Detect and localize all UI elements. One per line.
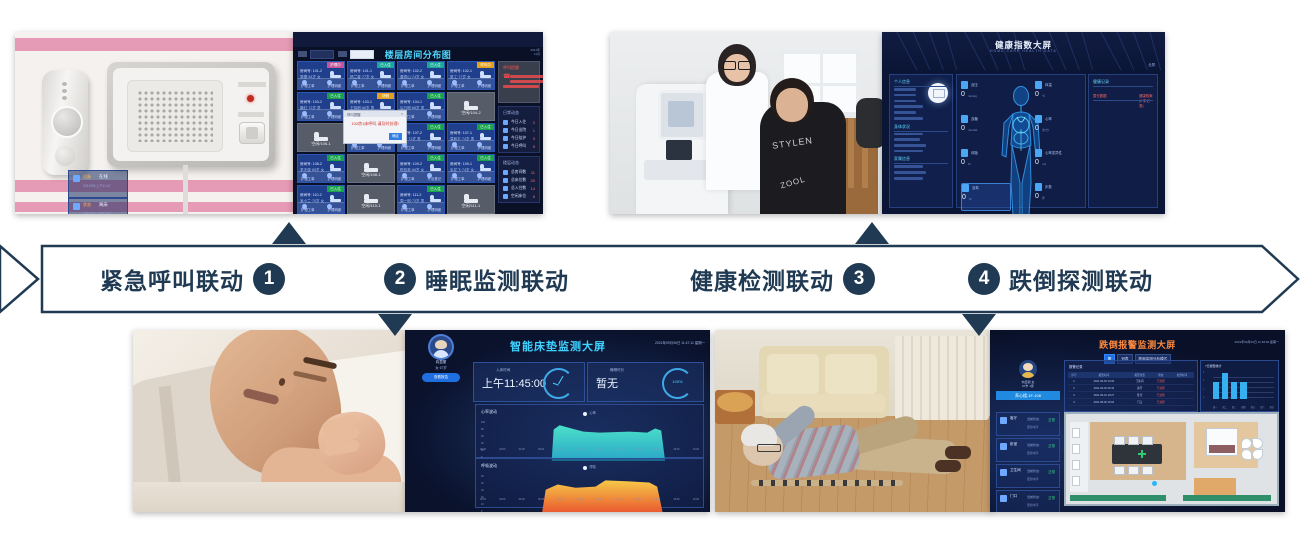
- breath-chart-legend: 呼吸: [590, 464, 596, 469]
- bed-icon: [380, 71, 391, 78]
- smart-mattress-dashboard: 向显丽 女 67岁 查看报告 智能床垫监测大屏 2021年09月06日 11:4…: [405, 330, 710, 512]
- shoe: [935, 460, 961, 472]
- health-records-column: 健康记录 暂无数据 健康档案(0 条记录): [1088, 74, 1158, 208]
- status-row-state: 状态离床2021/9/6 上午11:47: [68, 198, 128, 214]
- room-status-livingroom[interactable]: 客厅当前状态:正常更新时间:: [996, 412, 1060, 436]
- x-tick: 00:00: [480, 498, 486, 505]
- table-cell: 已处理: [1152, 385, 1170, 392]
- gauge-value: 100%: [664, 379, 691, 384]
- bed-action-1[interactable]: 护理工单: [351, 83, 365, 88]
- info-line: [894, 105, 923, 108]
- person-icon: [503, 120, 508, 125]
- stat-label: 今日入住: [511, 120, 526, 125]
- panel-title: 身体状况: [894, 124, 952, 130]
- y-tick: 3: [1203, 372, 1204, 374]
- bed-room-no: 房间号: 102-2: [400, 69, 422, 74]
- bed-action-1[interactable]: 护理工单: [451, 83, 465, 88]
- x-tick: 18:00: [654, 498, 660, 505]
- bedroom-icon: [1000, 443, 1007, 450]
- bed-action-1[interactable]: 护理工单: [301, 207, 315, 212]
- breath-icon: [1035, 149, 1042, 157]
- table-row[interactable]: 42021-08-30 10:04门口已处理: [1068, 399, 1194, 406]
- status-badge: 已入住: [377, 62, 394, 68]
- connector-arrow-up: [855, 222, 889, 244]
- bed-icon: [480, 71, 491, 78]
- metric-value: 0: [1035, 91, 1039, 99]
- blood-sugar-icon: [961, 115, 968, 123]
- bed-icon: [330, 71, 341, 78]
- sleep-duration-card: 睡眠时长 暂无 100%: [587, 362, 704, 402]
- metric-unit: mmol/L: [968, 128, 978, 132]
- info-line: [894, 138, 920, 141]
- call-button: [51, 106, 83, 138]
- bed-icon: [480, 133, 491, 140]
- bed-action-1[interactable]: 护理工单: [401, 176, 415, 181]
- metric-step: 步数0步: [1035, 183, 1083, 209]
- table-cell: 卧室: [1128, 392, 1152, 399]
- metric-value: 0: [961, 91, 965, 99]
- banner-number-1: 1: [253, 263, 285, 295]
- doctor-body: [706, 72, 768, 190]
- status-badge: 已入住: [427, 155, 444, 161]
- records-title: 健康记录: [1093, 79, 1157, 85]
- status-badge: 已入住: [427, 186, 444, 192]
- bed-action-1[interactable]: 护理工单: [301, 114, 315, 119]
- status-value: 在线: [99, 174, 108, 180]
- room-update-time: 更新时间:: [1027, 451, 1039, 455]
- blood-oxygen-icon: [962, 184, 969, 192]
- floor-plan: [1064, 412, 1279, 506]
- info-line: [894, 144, 926, 147]
- records-col1: 暂无数据: [1093, 93, 1107, 98]
- bed-card[interactable]: 已入住房间号: 111-2周一明·73岁 男护理工单护理明细: [397, 185, 445, 214]
- bedtime-label: 入床时间: [496, 368, 510, 373]
- status-badge: 已入住: [427, 124, 444, 130]
- banner-item-1[interactable]: 紧急呼叫联动 1: [100, 244, 285, 314]
- daily-stats-title: 日常动态: [503, 110, 539, 116]
- bed: [1206, 428, 1238, 456]
- bed-action-1[interactable]: 护理工单: [451, 145, 465, 150]
- bed-card[interactable]: 已入住房间号: 107-1袁和平·74岁 男护理工单护理明细: [447, 123, 495, 152]
- bed-card[interactable]: 已入住房间号: 102-2唐秀山·74岁 女护理工单护理明细: [397, 61, 445, 90]
- avatar: [430, 336, 452, 358]
- bedtime-card: 入床时间 上午11:45:00: [473, 362, 585, 402]
- metric-thermometer: 体温0℃: [1035, 81, 1083, 107]
- breath-chart-title: 呼吸波动: [481, 463, 497, 469]
- bed-action-2[interactable]: 护理明细: [477, 176, 491, 181]
- status-badge: 已入住: [477, 124, 494, 130]
- dash-fall-stamp: 2021年09月06日 11:48:02 星期一: [1235, 340, 1279, 344]
- dining-table: [1112, 444, 1162, 464]
- info-line: [894, 177, 923, 180]
- banner-item-3[interactable]: 健康检测联动 3: [690, 244, 875, 314]
- connector-arrow-down: [962, 314, 996, 336]
- x-tick: 14:00: [616, 448, 622, 455]
- x-tick: 16:00: [635, 498, 641, 505]
- blanket: [133, 482, 405, 512]
- bed-card[interactable]: 已入住房间号: 109-1毛花飞·74岁 女护理工单护理明细: [447, 154, 495, 183]
- table-cell: 已处理: [1152, 392, 1170, 399]
- bed-room-no: 房间号: 104-1: [400, 100, 422, 105]
- modal-ok-button[interactable]: 确定: [389, 133, 402, 140]
- clock-icon: [543, 368, 574, 399]
- resident-card: 向显丽 女 67岁 1床 养心楼-1F-108: [996, 360, 1060, 400]
- status-badge: 护理中: [327, 62, 344, 68]
- kiosk-tablet: [666, 140, 692, 160]
- table-cell: 2021-09-02 09:42: [1080, 385, 1128, 392]
- table-cell: 4: [1068, 399, 1080, 406]
- bed-card-empty[interactable]: 空闲/108-1: [347, 154, 395, 183]
- stat-row: 总入住数14: [499, 184, 539, 192]
- door-icon: [1000, 495, 1007, 502]
- metric-name: 体温: [1045, 82, 1052, 87]
- bed-icon: [330, 102, 341, 109]
- bed-card[interactable]: 呼叫中房间号: 102-1夏工·77岁 女护理工单护理明细: [447, 61, 495, 90]
- phone-icon: [503, 144, 508, 149]
- bed-action-2[interactable]: 护理明细: [327, 114, 341, 119]
- room-state-label: 当前状态:: [1027, 443, 1040, 447]
- status-badge: 已入住: [427, 93, 444, 99]
- metric-name: 血糖: [971, 116, 978, 121]
- bed-action-2[interactable]: 护理明细: [327, 83, 341, 88]
- view-report-button[interactable]: 查看报告: [422, 373, 460, 382]
- bed-action-1[interactable]: 护理工单: [451, 176, 465, 181]
- table-cell: [1170, 399, 1194, 406]
- room-update-time: 更新时间:: [1027, 503, 1039, 507]
- health-info-column: 个人信息身体状况家属信息: [889, 74, 953, 208]
- people-icon: [503, 186, 508, 191]
- bed-icon: [480, 164, 491, 171]
- floor-stats-title: 楼层动态: [503, 160, 539, 166]
- bed-action-2[interactable]: 护理明细: [327, 207, 341, 212]
- room-name: 卫生间: [1010, 468, 1021, 473]
- x-tick: 00:00: [480, 448, 486, 455]
- y-tick: 2: [1203, 380, 1204, 382]
- x-tick: 22:00: [693, 448, 699, 455]
- livingroom-icon: [1000, 417, 1007, 424]
- sleep-duration-label: 睡眠时长: [610, 368, 624, 373]
- bed-empty-label: 空闲/104-2: [448, 110, 494, 116]
- metric-breath: 心率变异性0ms: [1035, 149, 1083, 175]
- stat-row: 总房间数11: [499, 168, 539, 176]
- bed-card[interactable]: 护理中房间号: 101-2周雪·84岁 女护理工单护理明细: [297, 61, 345, 90]
- resident-age: 女 67岁: [413, 365, 469, 370]
- close-icon[interactable]: ×: [401, 112, 403, 116]
- stat-label: 总床位数: [511, 178, 526, 183]
- blood-pressure-icon: [961, 81, 968, 89]
- metric-name: 步数: [1045, 184, 1052, 189]
- table-cell: [1170, 385, 1194, 392]
- reset-button: [55, 146, 75, 166]
- heart-chart-legend: 心率: [590, 410, 596, 415]
- call-station-unit: [107, 62, 275, 167]
- alarm-bar-chart: 7日报警统计 3210 周一周二周三周四周五周六周日: [1200, 360, 1279, 412]
- stat-label: 今日呼叫: [511, 144, 526, 149]
- banner-number-2: 2: [384, 263, 416, 295]
- table-cell: 客厅: [1128, 385, 1152, 392]
- heart-icon: [1035, 115, 1042, 123]
- metric-value: 0: [961, 125, 965, 133]
- room-status-bathroom[interactable]: 卫生间当前状态:正常更新时间:: [996, 464, 1060, 488]
- room-update-time: 更新时间:: [1027, 477, 1039, 481]
- bar-chart-title: 7日报警统计: [1205, 364, 1222, 368]
- stat-label: 今日出院: [511, 128, 526, 133]
- table: 序号报警时间报警位置状态处理时间 12021-09-03 13:06卫生间已处理…: [1068, 372, 1194, 406]
- status-badge: 已入住: [327, 155, 344, 161]
- room-status-value: 正常: [1048, 417, 1055, 422]
- info-line: [894, 94, 916, 97]
- x-tick: 周日: [1270, 405, 1274, 409]
- stat-value: 20: [531, 178, 535, 183]
- metric-value: 0: [1035, 159, 1039, 167]
- office-chair: [856, 98, 882, 148]
- x-tick: 04:00: [519, 498, 525, 505]
- info-line: [894, 133, 923, 136]
- metric-value: 0: [961, 159, 965, 167]
- status-key: 状态: [83, 202, 91, 208]
- metric-unit: %: [968, 162, 971, 166]
- metric-blood-pressure: 血压0mmHg: [961, 81, 1009, 107]
- panel-title: 家属信息: [894, 156, 952, 162]
- fall-alarm-dashboard: 跌倒报警监测大屏 2021年09月06日 11:48:02 星期一 图列表跌倒监…: [990, 330, 1285, 512]
- table-cell: 2: [1068, 385, 1080, 392]
- banner-item-4[interactable]: 4 跌倒探测联动: [968, 244, 1153, 314]
- x-tick: 周四: [1241, 405, 1245, 409]
- bed-icon: [430, 71, 441, 78]
- stat-label: 空闲床位: [511, 194, 526, 199]
- glasses-icon: [757, 444, 781, 452]
- glasses-icon: [723, 61, 751, 68]
- bed-card-empty[interactable]: 空闲/111-1: [447, 185, 495, 214]
- daily-stats-panel: 日常动态 今日入住2今日出院1今日陪护3今日呼叫5: [498, 106, 540, 153]
- bed-action-2[interactable]: 护理明细: [477, 145, 491, 150]
- metric-name: 血氧: [972, 185, 979, 190]
- bed-icon: [430, 195, 441, 202]
- bed-room-no: 房间号: 101-2: [300, 69, 322, 74]
- avatar: [1019, 360, 1037, 378]
- info-line: [894, 165, 923, 168]
- bed-action-2[interactable]: 护理明细: [477, 83, 491, 88]
- bed-action-1[interactable]: 护理工单: [351, 145, 365, 150]
- bmi-icon: [961, 149, 968, 157]
- bed-action-2[interactable]: 外出登记: [427, 176, 441, 181]
- bed-action-2[interactable]: 护理明细: [377, 83, 391, 88]
- status-badge: 已入住: [327, 186, 344, 192]
- stat-value: 1: [533, 128, 535, 133]
- banner-item-2[interactable]: 2 睡眠监测联动: [384, 244, 569, 314]
- room-status-value: 正常: [1048, 469, 1055, 474]
- table-row[interactable]: 22021-09-02 09:42客厅已处理: [1068, 385, 1194, 392]
- x-tick: 周三: [1232, 405, 1236, 409]
- status-value: 离床: [99, 202, 108, 208]
- bed-action-1[interactable]: 护理工单: [401, 145, 415, 150]
- bed-card-empty[interactable]: 空闲/110-1: [347, 185, 395, 214]
- health-index-dashboard: 健康指数大屏 HOME CARE HEALTH DATA 全屏 个人信息身体状况…: [882, 32, 1165, 214]
- status-time: 2021/9/6 上午11:47: [83, 183, 110, 188]
- x-tick: 12:00: [596, 448, 602, 455]
- escort-icon: [503, 136, 508, 141]
- bed-room-no: 房间号: 102-1: [450, 69, 472, 74]
- filter-select-building[interactable]: [310, 50, 334, 59]
- bed-card[interactable]: 已入住房间号: 101-1杨兰香·77岁 女护理工单护理明细: [347, 61, 395, 90]
- wall-strip: [1183, 495, 1271, 501]
- device-icon: [73, 175, 80, 182]
- banner-number-4: 4: [968, 263, 1000, 295]
- bed-card[interactable]: 已入住房间号: 110-2吴小兰·70岁 女护理工单护理明细: [297, 185, 345, 214]
- info-line: [894, 117, 923, 120]
- alarm-record-table: 报警记录 序号报警时间报警位置状态处理时间 12021-09-03 13:06卫…: [1064, 360, 1198, 412]
- floor-stats-panel: 楼层动态 总房间数11总床位数20总入住数14空闲床位6: [498, 156, 540, 203]
- x-tick: 18:00: [654, 448, 660, 455]
- x-tick: 02:00: [499, 498, 505, 505]
- bed-icon: [503, 178, 508, 183]
- fan-icon: [1241, 438, 1263, 460]
- metric-unit: ℃: [1042, 94, 1045, 98]
- speaker-grille: [127, 80, 223, 152]
- cancel-button: [239, 122, 265, 144]
- x-tick: 06:00: [538, 498, 544, 505]
- status-time: 2021/9/6 上午11:47: [83, 211, 110, 214]
- metric-name: 体脂: [971, 150, 978, 155]
- home-icon: [503, 170, 508, 175]
- stat-row: 今日陪护3: [499, 134, 539, 142]
- radiator: [895, 336, 989, 420]
- status-badge: 已入住: [427, 62, 444, 68]
- stat-value: 14: [531, 186, 535, 191]
- bed-room-no: 房间号: 109-2: [400, 162, 422, 167]
- body-metrics-column: 血压0mmHg血糖0mmol/L体脂0%血氧0% 体温0℃心率0次/分心率变异性…: [956, 74, 1086, 208]
- table-row[interactable]: 32021-09-01 19:27卧室已处理: [1068, 392, 1194, 399]
- resident-detail: 67岁 1床: [996, 384, 1060, 388]
- bed-action-1[interactable]: 护理工单: [401, 83, 415, 88]
- dash-room-sidebar: 呼叫提醒 ☎ 日常动态 今日入住2今日出院1今日陪护3今日呼叫5 楼层动态 总房…: [498, 61, 540, 212]
- station-cord: [183, 165, 188, 214]
- connector-arrow-down: [378, 314, 412, 336]
- status-led: [247, 95, 254, 102]
- bed-room-no: 房间号: 108-2: [300, 162, 322, 167]
- hair: [741, 424, 777, 446]
- y-tick: 1: [1203, 389, 1204, 391]
- room-status-door[interactable]: 门口当前状态:正常更新时间:: [996, 490, 1060, 512]
- percent-gauge: 100%: [662, 368, 693, 399]
- banner-label-4: 跌倒探测联动: [1009, 262, 1153, 296]
- discharge-icon: [503, 128, 508, 133]
- bed-action-2[interactable]: 护理明细: [427, 83, 441, 88]
- bed-action-2[interactable]: 护理明细: [427, 207, 441, 212]
- bed-card-empty[interactable]: 空闲/106-1: [297, 123, 345, 152]
- filter-label-building: [298, 51, 307, 57]
- table-cell: [1170, 392, 1194, 399]
- bed-icon: [330, 195, 341, 202]
- modal-title: 呼叫提醒: [347, 112, 361, 117]
- bed-action-1[interactable]: 护理工单: [301, 176, 315, 181]
- status-row-device: 设备在线2021/9/6 上午11:47: [68, 170, 128, 198]
- filter-row: [298, 49, 538, 59]
- y-tick: 0: [1203, 397, 1204, 399]
- metric-value: 0: [962, 194, 966, 202]
- stat-label: 总房间数: [511, 170, 526, 175]
- room-status-bedroom[interactable]: 卧室当前状态:正常更新时间:: [996, 438, 1060, 462]
- fallen-person: [743, 422, 919, 482]
- stat-row: 总床位数20: [499, 176, 539, 184]
- bathroom-icon: [1000, 469, 1007, 476]
- metric-value: 0: [1035, 193, 1039, 201]
- bed-icon: [430, 102, 441, 109]
- sensor-marker: [1138, 450, 1146, 458]
- metric-unit: %: [969, 197, 972, 201]
- bed-room-no: 房间号: 109-1: [450, 162, 472, 167]
- person-marker: [1152, 481, 1157, 486]
- info-line: [894, 111, 916, 114]
- nurse-call-station-photo: 设备在线2021/9/6 上午11:47状态离床2021/9/6 上午11:47…: [15, 32, 293, 214]
- connector-arrow-up: [272, 222, 306, 244]
- filter-select-floor[interactable]: [350, 50, 374, 59]
- modal-message: 102房1床呼叫,请及时处理!: [344, 121, 406, 127]
- bed-card[interactable]: 已入住房间号: 108-2李天强·65岁 女护理工单护理明细: [297, 154, 345, 183]
- metric-name: 血压: [971, 82, 978, 87]
- room-update-time: 更新时间:: [1027, 425, 1039, 429]
- metric-unit: mmHg: [968, 94, 977, 98]
- bed-action-2[interactable]: 护理明细: [377, 145, 391, 150]
- room-name: 卧室: [1010, 442, 1017, 447]
- table-cell: 门口: [1128, 399, 1152, 406]
- floor-room-dashboard: 楼层房间分布图 2021年11月 护理中房间号: 101-2周雪·84岁 女护理…: [293, 32, 543, 214]
- bed-card[interactable]: 已入住房间号: 103-2滕红·72岁 男护理工单护理明细: [297, 92, 345, 121]
- metric-blood-sugar: 血糖0mmol/L: [961, 115, 1009, 141]
- dash-health-subtitle: HOME CARE HEALTH DATA: [882, 49, 1165, 53]
- call-handset: 设备在线2021/9/6 上午11:47状态离床2021/9/6 上午11:47…: [42, 70, 88, 175]
- x-tick: 周二: [1222, 405, 1226, 409]
- call-alert-modal[interactable]: 呼叫提醒× 102房1床呼叫,请及时处理! 确定: [343, 110, 407, 144]
- banner-label-1: 紧急呼叫联动: [100, 262, 244, 296]
- fullscreen-button[interactable]: 全屏: [1148, 62, 1155, 67]
- bed-action-1[interactable]: 护理工单: [301, 83, 315, 88]
- bed-empty-label: 空闲/110-1: [348, 203, 394, 209]
- table-cell: 已处理: [1152, 399, 1170, 406]
- status-badge: 已入住: [327, 93, 344, 99]
- panel-title: 个人信息: [894, 79, 952, 85]
- status-badge: 已入住: [477, 155, 494, 161]
- status-badge: 请假: [377, 93, 394, 99]
- bed-icon: [380, 102, 391, 109]
- elderly-fall-photo: [715, 330, 992, 512]
- x-tick: 22:00: [693, 498, 699, 505]
- bed-card[interactable]: 已入住房间号: 109-2陈桂英·66岁 女护理工单外出登记: [397, 154, 445, 183]
- bed-action-2[interactable]: 护理明细: [327, 176, 341, 181]
- stat-value: 3: [533, 136, 535, 141]
- heart-rate-chart: 心率波动 心率 100806040200 00:0002:0004:0006:0…: [475, 404, 704, 458]
- bed-card-empty[interactable]: 空闲/104-2: [447, 92, 495, 121]
- bed-empty-label: 空闲/106-1: [298, 141, 344, 147]
- bed-action-2[interactable]: 护理明细: [427, 145, 441, 150]
- walking-cane: [751, 480, 903, 486]
- x-tick: 20:00: [674, 448, 680, 455]
- table-cell: 3: [1068, 392, 1080, 399]
- room-status-value: 正常: [1048, 443, 1055, 448]
- patient-face: [776, 88, 808, 122]
- metric-unit: ms: [1042, 162, 1046, 166]
- stat-value: 2: [533, 120, 535, 125]
- bed-action-1[interactable]: 护理工单: [401, 207, 415, 212]
- dashboard-topbar: [293, 32, 543, 47]
- bar: [1231, 382, 1237, 399]
- x-tick: 06:00: [538, 448, 544, 455]
- bed-action-2[interactable]: 护理明细: [427, 114, 441, 119]
- sleep-duration-value: 暂无: [596, 375, 618, 391]
- room-state-label: 当前状态:: [1027, 469, 1040, 473]
- stat-row: 今日呼叫5: [499, 142, 539, 150]
- bed-room-no: 房间号: 111-2: [400, 193, 421, 198]
